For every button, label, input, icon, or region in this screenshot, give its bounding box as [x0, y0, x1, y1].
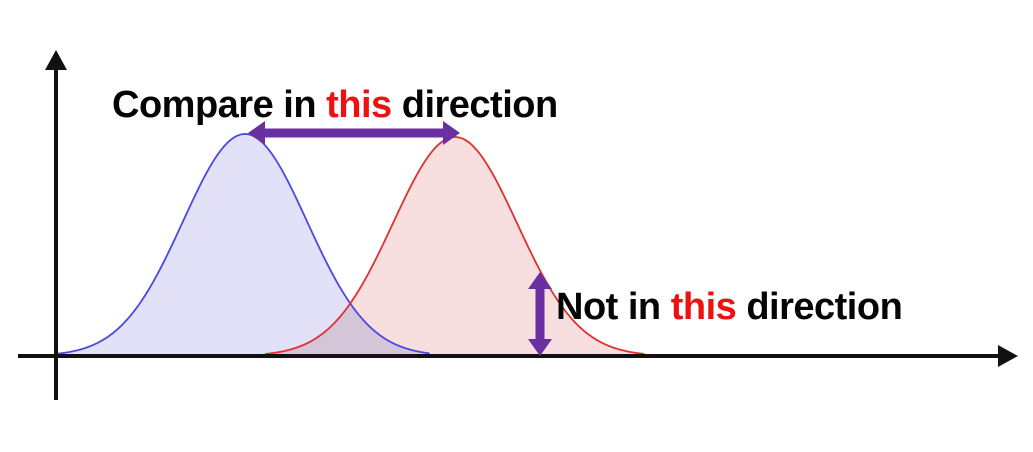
figure-canvas: Compare in this direction Not in this di…: [0, 0, 1033, 452]
not-direction-label: Not in this direction: [556, 288, 902, 326]
y-axis-arrowhead: [45, 50, 67, 70]
not-label-highlight: this: [671, 286, 737, 328]
not-label-suffix: direction: [736, 286, 902, 328]
compare-direction-label: Compare in this direction: [112, 86, 558, 124]
compare-label-suffix: direction: [392, 84, 558, 126]
not-label-prefix: Not in: [556, 286, 671, 328]
x-axis-arrowhead: [998, 345, 1018, 367]
distribution-comparison-figure: [0, 0, 1033, 452]
compare-label-prefix: Compare in: [112, 84, 326, 126]
compare-label-highlight: this: [326, 84, 392, 126]
